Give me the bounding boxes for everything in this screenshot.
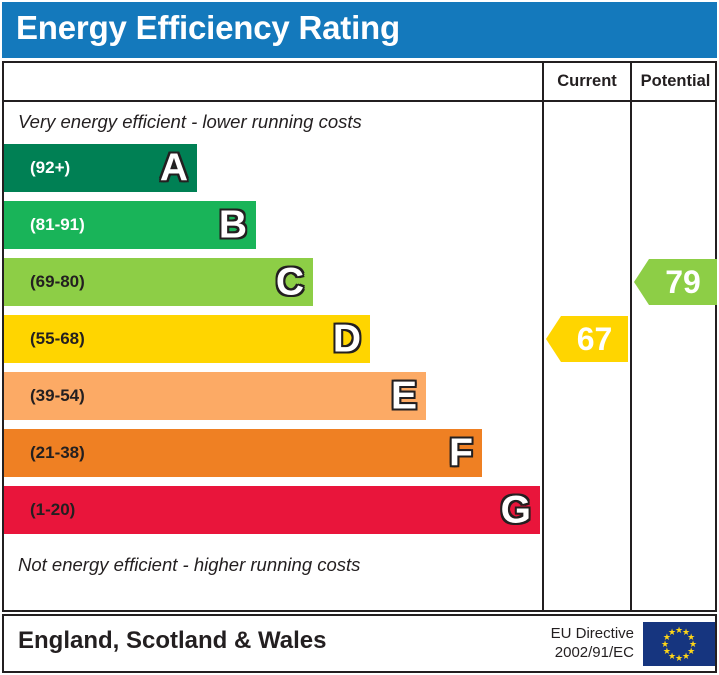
footer: England, Scotland & Wales EU Directive 2… (2, 614, 717, 673)
body-divider-current (542, 102, 544, 610)
band-range-e: (39-54) (30, 386, 85, 406)
band-range-d: (55-68) (30, 329, 85, 349)
caption-inefficient: Not energy efficient - higher running co… (18, 554, 360, 576)
band-letter-a: A (160, 149, 188, 188)
band-letter-c: C (276, 263, 304, 302)
column-header-potential: Potential (632, 72, 719, 91)
band-range-a: (92+) (30, 158, 70, 178)
band-letter-e: E (391, 377, 417, 416)
rating-bands: (92+)A(81-91)B(69-80)C(55-68)D(39-54)E(2… (4, 144, 542, 548)
chart-frame: Current Potential Very energy efficient … (2, 61, 717, 612)
rating-arrow-potential: 79 (634, 259, 717, 305)
rating-band-a: (92+)A (4, 144, 197, 192)
footer-directive: EU Directive 2002/91/EC (524, 624, 634, 662)
band-letter-f: F (449, 434, 473, 473)
footer-directive-line2: 2002/91/EC (524, 643, 634, 662)
band-letter-g: G (501, 491, 531, 530)
body-divider-potential (630, 102, 632, 610)
column-header-row: Current Potential (4, 63, 715, 102)
eu-flag-star: ★ (668, 628, 676, 636)
eu-flag-star: ★ (682, 652, 690, 660)
band-range-g: (1-20) (30, 500, 75, 520)
rating-band-d: (55-68)D (4, 315, 370, 363)
footer-directive-line1: EU Directive (524, 624, 634, 643)
eu-flag-icon: ★★★★★★★★★★★★ (643, 622, 715, 666)
energy-efficiency-rating-chart: Energy Efficiency Rating Current Potenti… (0, 0, 719, 675)
band-range-f: (21-38) (30, 443, 85, 463)
rating-value-potential: 79 (649, 266, 717, 298)
rating-band-e: (39-54)E (4, 372, 426, 420)
rating-arrow-current: 67 (546, 316, 628, 362)
rating-band-c: (69-80)C (4, 258, 313, 306)
eu-flag-star: ★ (675, 654, 683, 662)
band-range-b: (81-91) (30, 215, 85, 235)
column-header-current: Current (544, 72, 630, 91)
chart-body: Very energy efficient - lower running co… (4, 102, 715, 610)
rating-value-current: 67 (561, 323, 628, 355)
rating-band-f: (21-38)F (4, 429, 482, 477)
caption-efficient: Very energy efficient - lower running co… (18, 111, 362, 133)
band-letter-d: D (333, 320, 361, 359)
band-range-c: (69-80) (30, 272, 85, 292)
footer-region-label: England, Scotland & Wales (18, 627, 326, 655)
band-letter-b: B (219, 206, 247, 245)
title-bar: Energy Efficiency Rating (2, 2, 717, 58)
page-title: Energy Efficiency Rating (16, 9, 400, 47)
rating-band-g: (1-20)G (4, 486, 540, 534)
rating-band-b: (81-91)B (4, 201, 256, 249)
